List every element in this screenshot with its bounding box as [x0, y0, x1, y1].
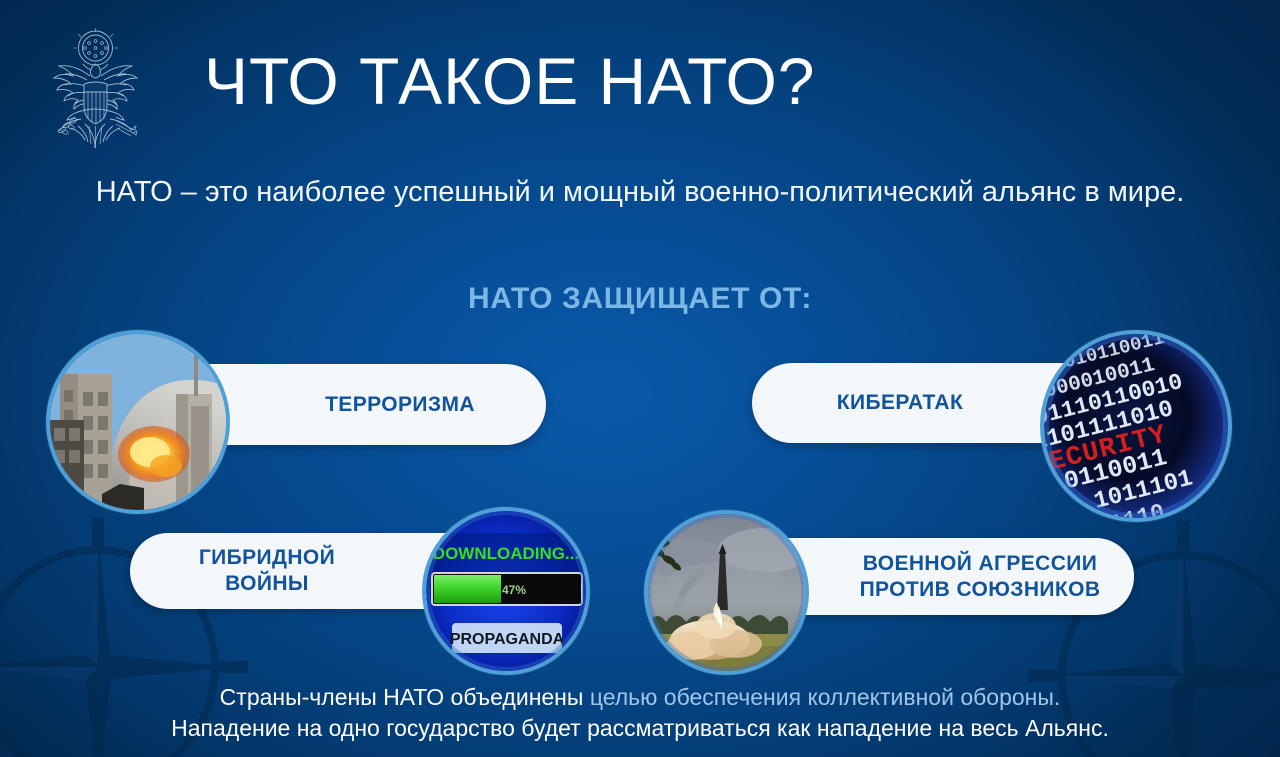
- section-heading: НАТО ЗАЩИЩАЕТ ОТ:: [0, 282, 1280, 316]
- footer-note: Страны-члены НАТО объединены целью обесп…: [0, 682, 1280, 744]
- threat-card-hybrid-war: ГИБРИДНОЙ ВОЙНЫ: [130, 507, 590, 667]
- footer-line-2: Нападение на одно государство будет расс…: [0, 713, 1280, 744]
- threat-label-pill: ТЕРРОРИЗМА: [194, 364, 546, 445]
- downloading-text: DOWNLOADING...: [433, 544, 579, 563]
- great-seal-emblem-icon: [33, 26, 158, 158]
- burning-twin-towers-photo: [46, 330, 230, 514]
- page-title: ЧТО ТАКОЕ НАТО?: [204, 44, 815, 118]
- threat-label-pill: ГИБРИДНОЙ ВОЙНЫ: [130, 533, 458, 609]
- threat-label-text: ТЕРРОРИЗМА: [325, 392, 475, 418]
- threat-label-text: КИБЕРАТАК: [837, 390, 963, 416]
- footer-line-1-accent: целью обеспечения коллективной обороны.: [590, 684, 1061, 710]
- threat-card-cyber: КИБЕРАТАК 0110010110011: [752, 330, 1232, 515]
- progress-percent-text: 47%: [502, 583, 526, 597]
- binary-code-security-photo: 0110010110011 00000010011 101110110010 1…: [1040, 330, 1232, 522]
- threat-card-terrorism: ТЕРРОРИЗМА: [46, 330, 516, 510]
- footer-line-1-white: Страны-члены НАТО объединены: [220, 684, 590, 710]
- threat-card-military-aggression: ВОЕННОЙ АГРЕССИИ ПРОТИВ СОЮЗНИКОВ: [644, 510, 1134, 675]
- propaganda-text: PROPAGANDA: [450, 631, 565, 648]
- nato-infographic-slide: ЧТО ТАКОЕ НАТО? НАТО – это наиболее успе…: [0, 0, 1280, 757]
- missile-launch-photo: [644, 510, 809, 675]
- threat-label-pill: ВОЕННОЙ АГРЕССИИ ПРОТИВ СОЮЗНИКОВ: [778, 538, 1134, 615]
- threat-label-text: ГИБРИДНОЙ ВОЙНЫ: [199, 545, 335, 597]
- threat-label-text: ВОЕННОЙ АГРЕССИИ ПРОТИВ СОЮЗНИКОВ: [860, 551, 1101, 603]
- propaganda-download-bar-photo: DOWNLOADING... 47% PROPAGANDA: [422, 507, 590, 675]
- subtitle-text: НАТО – это наиболее успешный и мощный во…: [70, 170, 1210, 215]
- footer-line-1: Страны-члены НАТО объединены целью обесп…: [0, 682, 1280, 713]
